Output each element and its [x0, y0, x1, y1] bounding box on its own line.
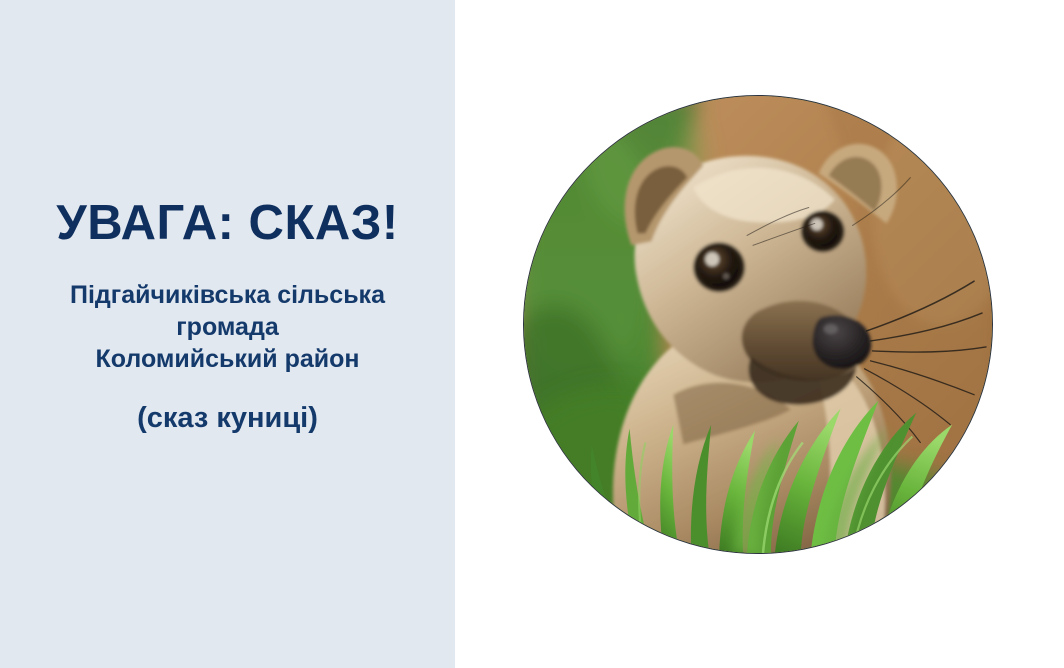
community-line-1: Підгайчиківська сільська [28, 279, 427, 311]
page-title: УВАГА: СКАЗ! [0, 196, 455, 251]
photo-frame [523, 95, 993, 554]
community-block: Підгайчиківська сільська громада Коломий… [0, 279, 455, 375]
community-line-2: громада [28, 311, 427, 343]
marten-photo [523, 95, 993, 554]
poster-canvas: УВАГА: СКАЗ! Підгайчиківська сільська гр… [0, 0, 1064, 668]
marten-illustration [524, 96, 992, 553]
disease-note: (сказ куниці) [0, 401, 455, 436]
text-stack: УВАГА: СКАЗ! Підгайчиківська сільська гр… [0, 196, 455, 436]
district-line: Коломийський район [28, 343, 427, 375]
text-panel: УВАГА: СКАЗ! Підгайчиківська сільська гр… [0, 0, 455, 668]
